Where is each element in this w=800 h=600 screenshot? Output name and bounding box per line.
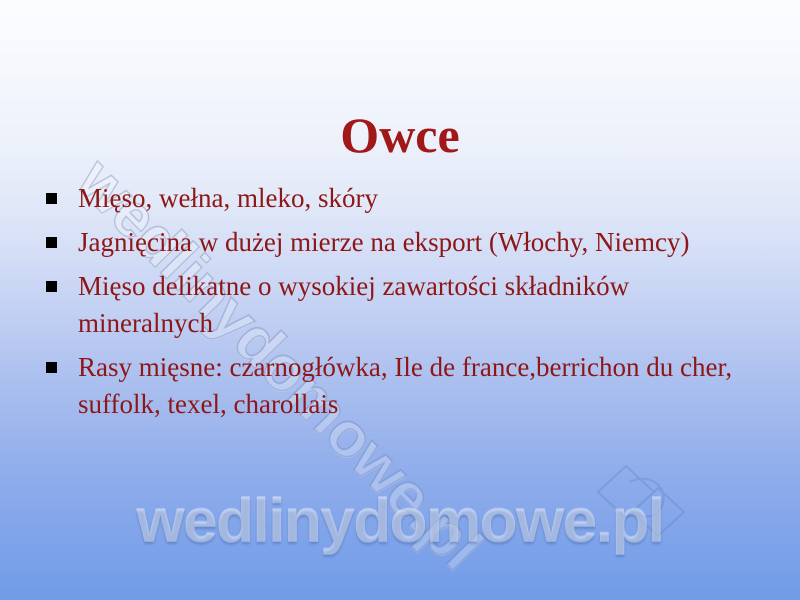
- list-item: Rasy mięsne: czarnogłówka, Ile de france…: [40, 349, 758, 423]
- presentation-slide: wedlinydomowe.pl Owce Mięso, wełna, mlek…: [0, 0, 800, 600]
- page-title: Owce: [0, 106, 800, 164]
- list-item-label: Mięso delikatne o wysokiej zawartości sk…: [78, 268, 758, 342]
- list-item: Mięso delikatne o wysokiej zawartości sk…: [40, 268, 758, 342]
- diamond-logo-icon: [596, 462, 688, 544]
- list-item-label: Jagnięcina w dużej mierze na eksport (Wł…: [78, 224, 758, 261]
- bullet-list: Mięso, wełna, mleko, skóry Jagnięcina w …: [40, 180, 758, 430]
- square-bullet-icon: [46, 237, 57, 248]
- square-bullet-icon: [46, 362, 57, 373]
- square-bullet-icon: [46, 193, 57, 204]
- list-item-label: Mięso, wełna, mleko, skóry: [78, 180, 758, 217]
- square-bullet-icon: [46, 281, 57, 292]
- list-item: Jagnięcina w dużej mierze na eksport (Wł…: [40, 224, 758, 261]
- bottom-watermark: wedlinydomowe.pl: [0, 486, 800, 557]
- list-item: Mięso, wełna, mleko, skóry: [40, 180, 758, 217]
- list-item-label: Rasy mięsne: czarnogłówka, Ile de france…: [78, 349, 758, 423]
